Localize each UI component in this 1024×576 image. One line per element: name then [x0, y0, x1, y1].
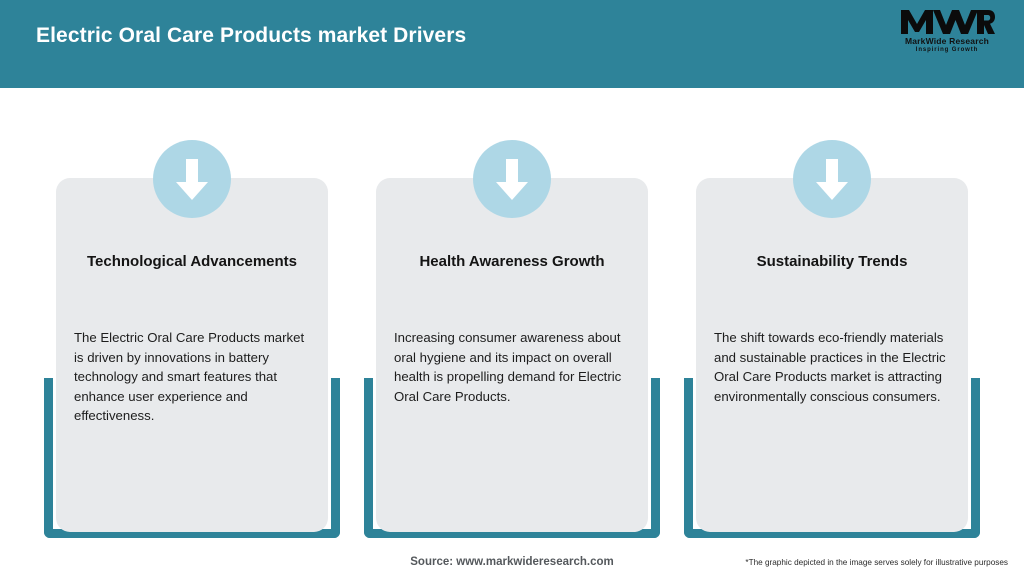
header-bar: Electric Oral Care Products market Drive… [0, 0, 1024, 88]
driver-cards-group: Technological Advancements The Electric … [0, 88, 1024, 548]
card-title: Health Awareness Growth [390, 253, 634, 272]
driver-card-1: Technological Advancements The Electric … [32, 88, 352, 548]
page-title: Electric Oral Care Products market Drive… [36, 24, 466, 48]
card-title: Technological Advancements [70, 253, 314, 272]
arrow-down-icon [153, 140, 231, 218]
card-body: Increasing consumer awareness about oral… [394, 328, 632, 406]
infographic-canvas: Electric Oral Care Products market Drive… [0, 0, 1024, 576]
card-panel: Health Awareness Growth Increasing consu… [376, 178, 648, 532]
card-panel: Sustainability Trends The shift towards … [696, 178, 968, 532]
brand-logo: MarkWide Research Inspiring Growth [892, 9, 1002, 53]
brand-tagline: Inspiring Growth [892, 47, 1002, 53]
driver-card-2: Health Awareness Growth Increasing consu… [352, 88, 672, 548]
mwr-logo-icon [892, 9, 1002, 35]
card-body: The Electric Oral Care Products market i… [74, 328, 312, 426]
card-panel: Technological Advancements The Electric … [56, 178, 328, 532]
card-title: Sustainability Trends [710, 253, 954, 272]
brand-name: MarkWide Research [892, 37, 1002, 46]
disclaimer-note: *The graphic depicted in the image serve… [745, 558, 1008, 567]
arrow-down-icon [793, 140, 871, 218]
driver-card-3: Sustainability Trends The shift towards … [672, 88, 992, 548]
card-body: The shift towards eco-friendly materials… [714, 328, 952, 406]
arrow-down-icon [473, 140, 551, 218]
